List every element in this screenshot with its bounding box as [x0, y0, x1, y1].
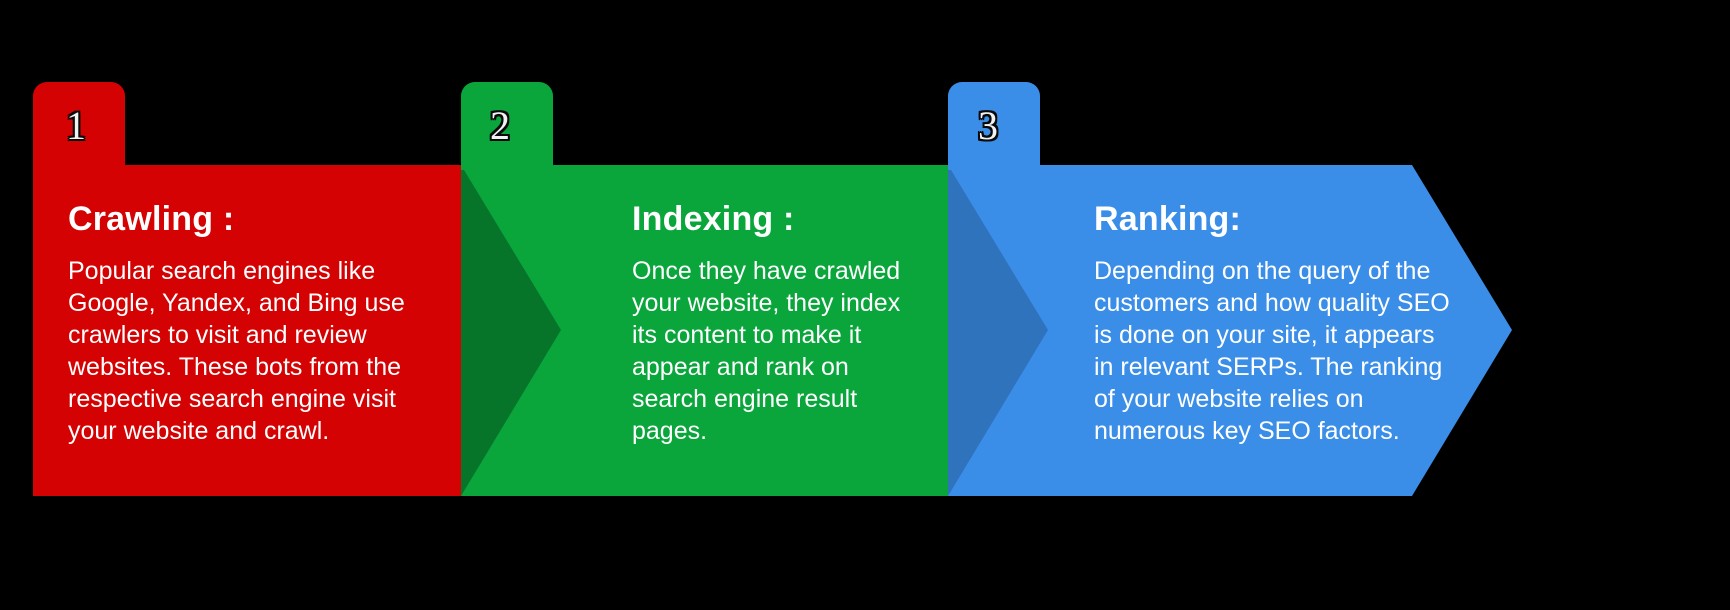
step-3-body: Depending on the query of the customers … — [1094, 255, 1494, 447]
step-2-number: 2 — [490, 106, 510, 146]
infographic-canvas: 1 2 3 Crawling : Popular search engines … — [0, 0, 1730, 610]
step-2-body: Once they have crawled your website, the… — [632, 255, 962, 447]
step-3-content: Ranking: Depending on the query of the c… — [1094, 200, 1494, 447]
step-1-content: Crawling : Popular search engines like G… — [68, 200, 468, 447]
step-3-number: 3 — [978, 106, 998, 146]
step-3-title: Ranking: — [1094, 200, 1494, 239]
step-1-number: 1 — [66, 106, 86, 146]
step-2-title: Indexing : — [632, 200, 962, 239]
step-1-title: Crawling : — [68, 200, 468, 239]
step-1-body: Popular search engines like Google, Yand… — [68, 255, 468, 447]
step-2-content: Indexing : Once they have crawled your w… — [632, 200, 962, 447]
